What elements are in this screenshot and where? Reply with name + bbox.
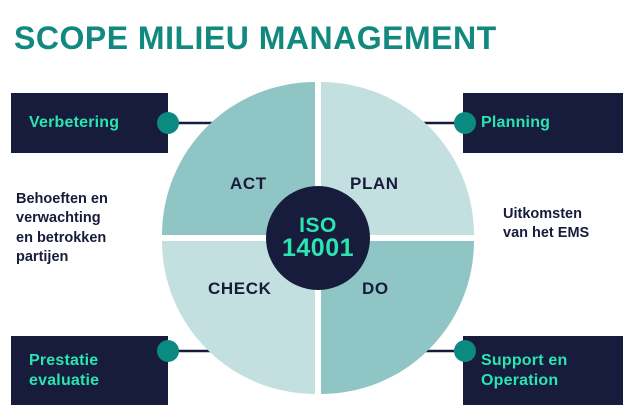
- callout-box-prestatie-evaluatie[interactable]: Prestatie evaluatie: [11, 336, 168, 405]
- callout-label-verbetering: Verbetering: [29, 113, 119, 133]
- pdca-wheel: ACT PLAN CHECK DO ISO 14001: [162, 82, 474, 394]
- center-hub: ISO 14001: [266, 186, 370, 290]
- quadrant-label-check: CHECK: [208, 279, 271, 299]
- callout-box-planning[interactable]: Planning: [463, 93, 623, 153]
- hub-standard-prefix: ISO: [299, 215, 337, 236]
- quadrant-label-plan: PLAN: [350, 174, 399, 194]
- hub-standard-number: 14001: [282, 236, 354, 262]
- connector-dot-verbetering: [157, 112, 179, 134]
- connector-dot-planning: [454, 112, 476, 134]
- callout-label-support-operation: Support en Operation: [481, 351, 567, 390]
- caption-uitkomsten-ems: Uitkomsten van het EMS: [503, 205, 589, 244]
- quadrant-label-act: ACT: [230, 174, 267, 194]
- connector-dot-prestatie: [157, 340, 179, 362]
- callout-label-planning: Planning: [481, 113, 550, 133]
- caption-behoeften-verwachtingen: Behoeften en verwachting en betrokken pa…: [16, 190, 108, 267]
- connector-dot-support: [454, 340, 476, 362]
- callout-box-support-operation[interactable]: Support en Operation: [463, 336, 623, 405]
- callout-label-prestatie-evaluatie: Prestatie evaluatie: [29, 351, 99, 390]
- callout-box-verbetering[interactable]: Verbetering: [11, 93, 168, 153]
- quadrant-label-do: DO: [362, 279, 389, 299]
- page-title: SCOPE MILIEU MANAGEMENT: [14, 22, 497, 54]
